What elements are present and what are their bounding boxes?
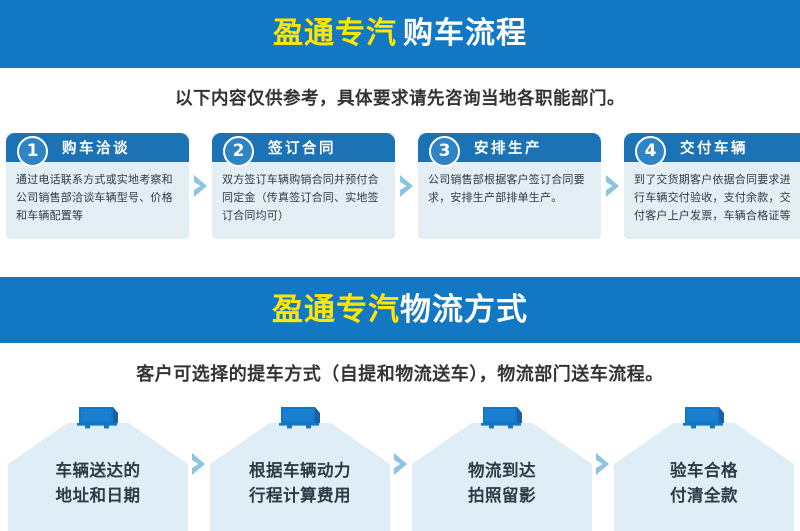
logistics-card-2-label: 根据车辆动力 行程计算费用 — [210, 458, 390, 508]
step-number-badge: 1 — [17, 136, 48, 167]
logistics-card-4-line2: 付清全款 — [614, 483, 794, 508]
chevron-right-icon — [390, 403, 412, 531]
step-number-badge: 4 — [635, 136, 666, 167]
chevron-right-icon — [601, 133, 624, 239]
logistics-card-3-line2: 拍照留影 — [412, 483, 592, 508]
purchase-subtitle: 以下内容仅供参考，具体要求请先咨询当地各职能部门。 — [0, 85, 800, 110]
step-card-3-body: 公司销售部根据客户签订合同要求，安排生产部排单生产。 — [418, 162, 601, 213]
logistics-card-3-label: 物流到达 拍照留影 — [412, 458, 592, 508]
logistics-card-4-line1: 验车合格 — [614, 458, 794, 483]
step-card-4-body: 到了交货期客户依据合同要求进行车辆交付验收，支付余款，交付客户上户发票，车辆合格… — [624, 162, 800, 230]
logistics-banner: 盈通专汽物流方式 — [0, 277, 800, 343]
step-card-3[interactable]: 3 安排生产 公司销售部根据客户签订合同要求，安排生产部排单生产。 — [418, 133, 601, 239]
brand-text: 盈通专汽 — [272, 292, 400, 328]
purchase-banner: 盈通专汽购车流程 — [0, 0, 800, 68]
step-card-1-header: 1 购车洽谈 — [6, 133, 189, 162]
logistics-card-1-line1: 车辆送达的 — [8, 458, 188, 483]
chevron-right-icon — [395, 133, 418, 239]
step-card-2-body: 双方签订车辆购销合同并预付合同定金（传真签订合同、实地签订合同均可） — [212, 162, 395, 230]
logistics-card-1-line2: 地址和日期 — [8, 483, 188, 508]
logistics-card-3[interactable]: 物流到达 拍照留影 — [412, 403, 592, 531]
logistics-card-3-line1: 物流到达 — [412, 458, 592, 483]
step-card-2-title: 签订合同 — [268, 137, 336, 158]
logistics-card-2-line1: 根据车辆动力 — [210, 458, 390, 483]
truck-icon — [479, 403, 525, 429]
purchase-banner-suffix: 购车流程 — [403, 16, 527, 51]
step-number-badge: 2 — [223, 136, 254, 167]
chevron-right-icon — [189, 133, 212, 239]
step-card-1-body: 通过电话联系方式或实地考察和公司销售部洽谈车辆型号、价格和车辆配置等 — [6, 162, 189, 230]
step-number-badge: 3 — [429, 136, 460, 167]
page-root: 盈通专汽购车流程 以下内容仅供参考，具体要求请先咨询当地各职能部门。 1 购车洽… — [0, 0, 800, 531]
logistics-card-4-label: 验车合格 付清全款 — [614, 458, 794, 508]
step-card-3-title: 安排生产 — [474, 137, 542, 158]
chevron-right-icon — [188, 403, 210, 531]
chevron-right-icon — [592, 403, 614, 531]
logistics-card-2-line2: 行程计算费用 — [210, 483, 390, 508]
step-card-2[interactable]: 2 签订合同 双方签订车辆购销合同并预付合同定金（传真签订合同、实地签订合同均可… — [212, 133, 395, 239]
logistics-banner-suffix: 物流方式 — [400, 292, 528, 328]
step-card-4[interactable]: 4 交付车辆 到了交货期客户依据合同要求进行车辆交付验收，支付余款，交付客户上户… — [624, 133, 800, 239]
brand-text: 盈通专汽 — [273, 16, 397, 51]
logistics-steps-row: 车辆送达的 地址和日期 根据车辆动力 — [0, 403, 800, 531]
purchase-banner-title: 盈通专汽购车流程 — [273, 19, 527, 49]
truck-icon — [681, 403, 727, 429]
purchase-steps-row: 1 购车洽谈 通过电话联系方式或实地考察和公司销售部洽谈车辆型号、价格和车辆配置… — [0, 133, 800, 245]
logistics-card-2[interactable]: 根据车辆动力 行程计算费用 — [210, 403, 390, 531]
step-card-2-header: 2 签订合同 — [212, 133, 395, 162]
logistics-subtitle: 客户可选择的提车方式（自提和物流送车），物流部门送车流程。 — [0, 360, 800, 386]
step-card-1-title: 购车洽谈 — [62, 137, 130, 158]
logistics-banner-title: 盈通专汽物流方式 — [272, 295, 528, 326]
step-card-4-header: 4 交付车辆 — [624, 133, 800, 162]
step-card-3-header: 3 安排生产 — [418, 133, 601, 162]
truck-icon — [277, 403, 323, 429]
step-card-4-title: 交付车辆 — [680, 137, 748, 158]
step-card-1[interactable]: 1 购车洽谈 通过电话联系方式或实地考察和公司销售部洽谈车辆型号、价格和车辆配置… — [6, 133, 189, 239]
logistics-card-1-label: 车辆送达的 地址和日期 — [8, 458, 188, 508]
truck-icon — [75, 403, 121, 429]
logistics-card-4[interactable]: 验车合格 付清全款 — [614, 403, 794, 531]
logistics-card-1[interactable]: 车辆送达的 地址和日期 — [8, 403, 188, 531]
